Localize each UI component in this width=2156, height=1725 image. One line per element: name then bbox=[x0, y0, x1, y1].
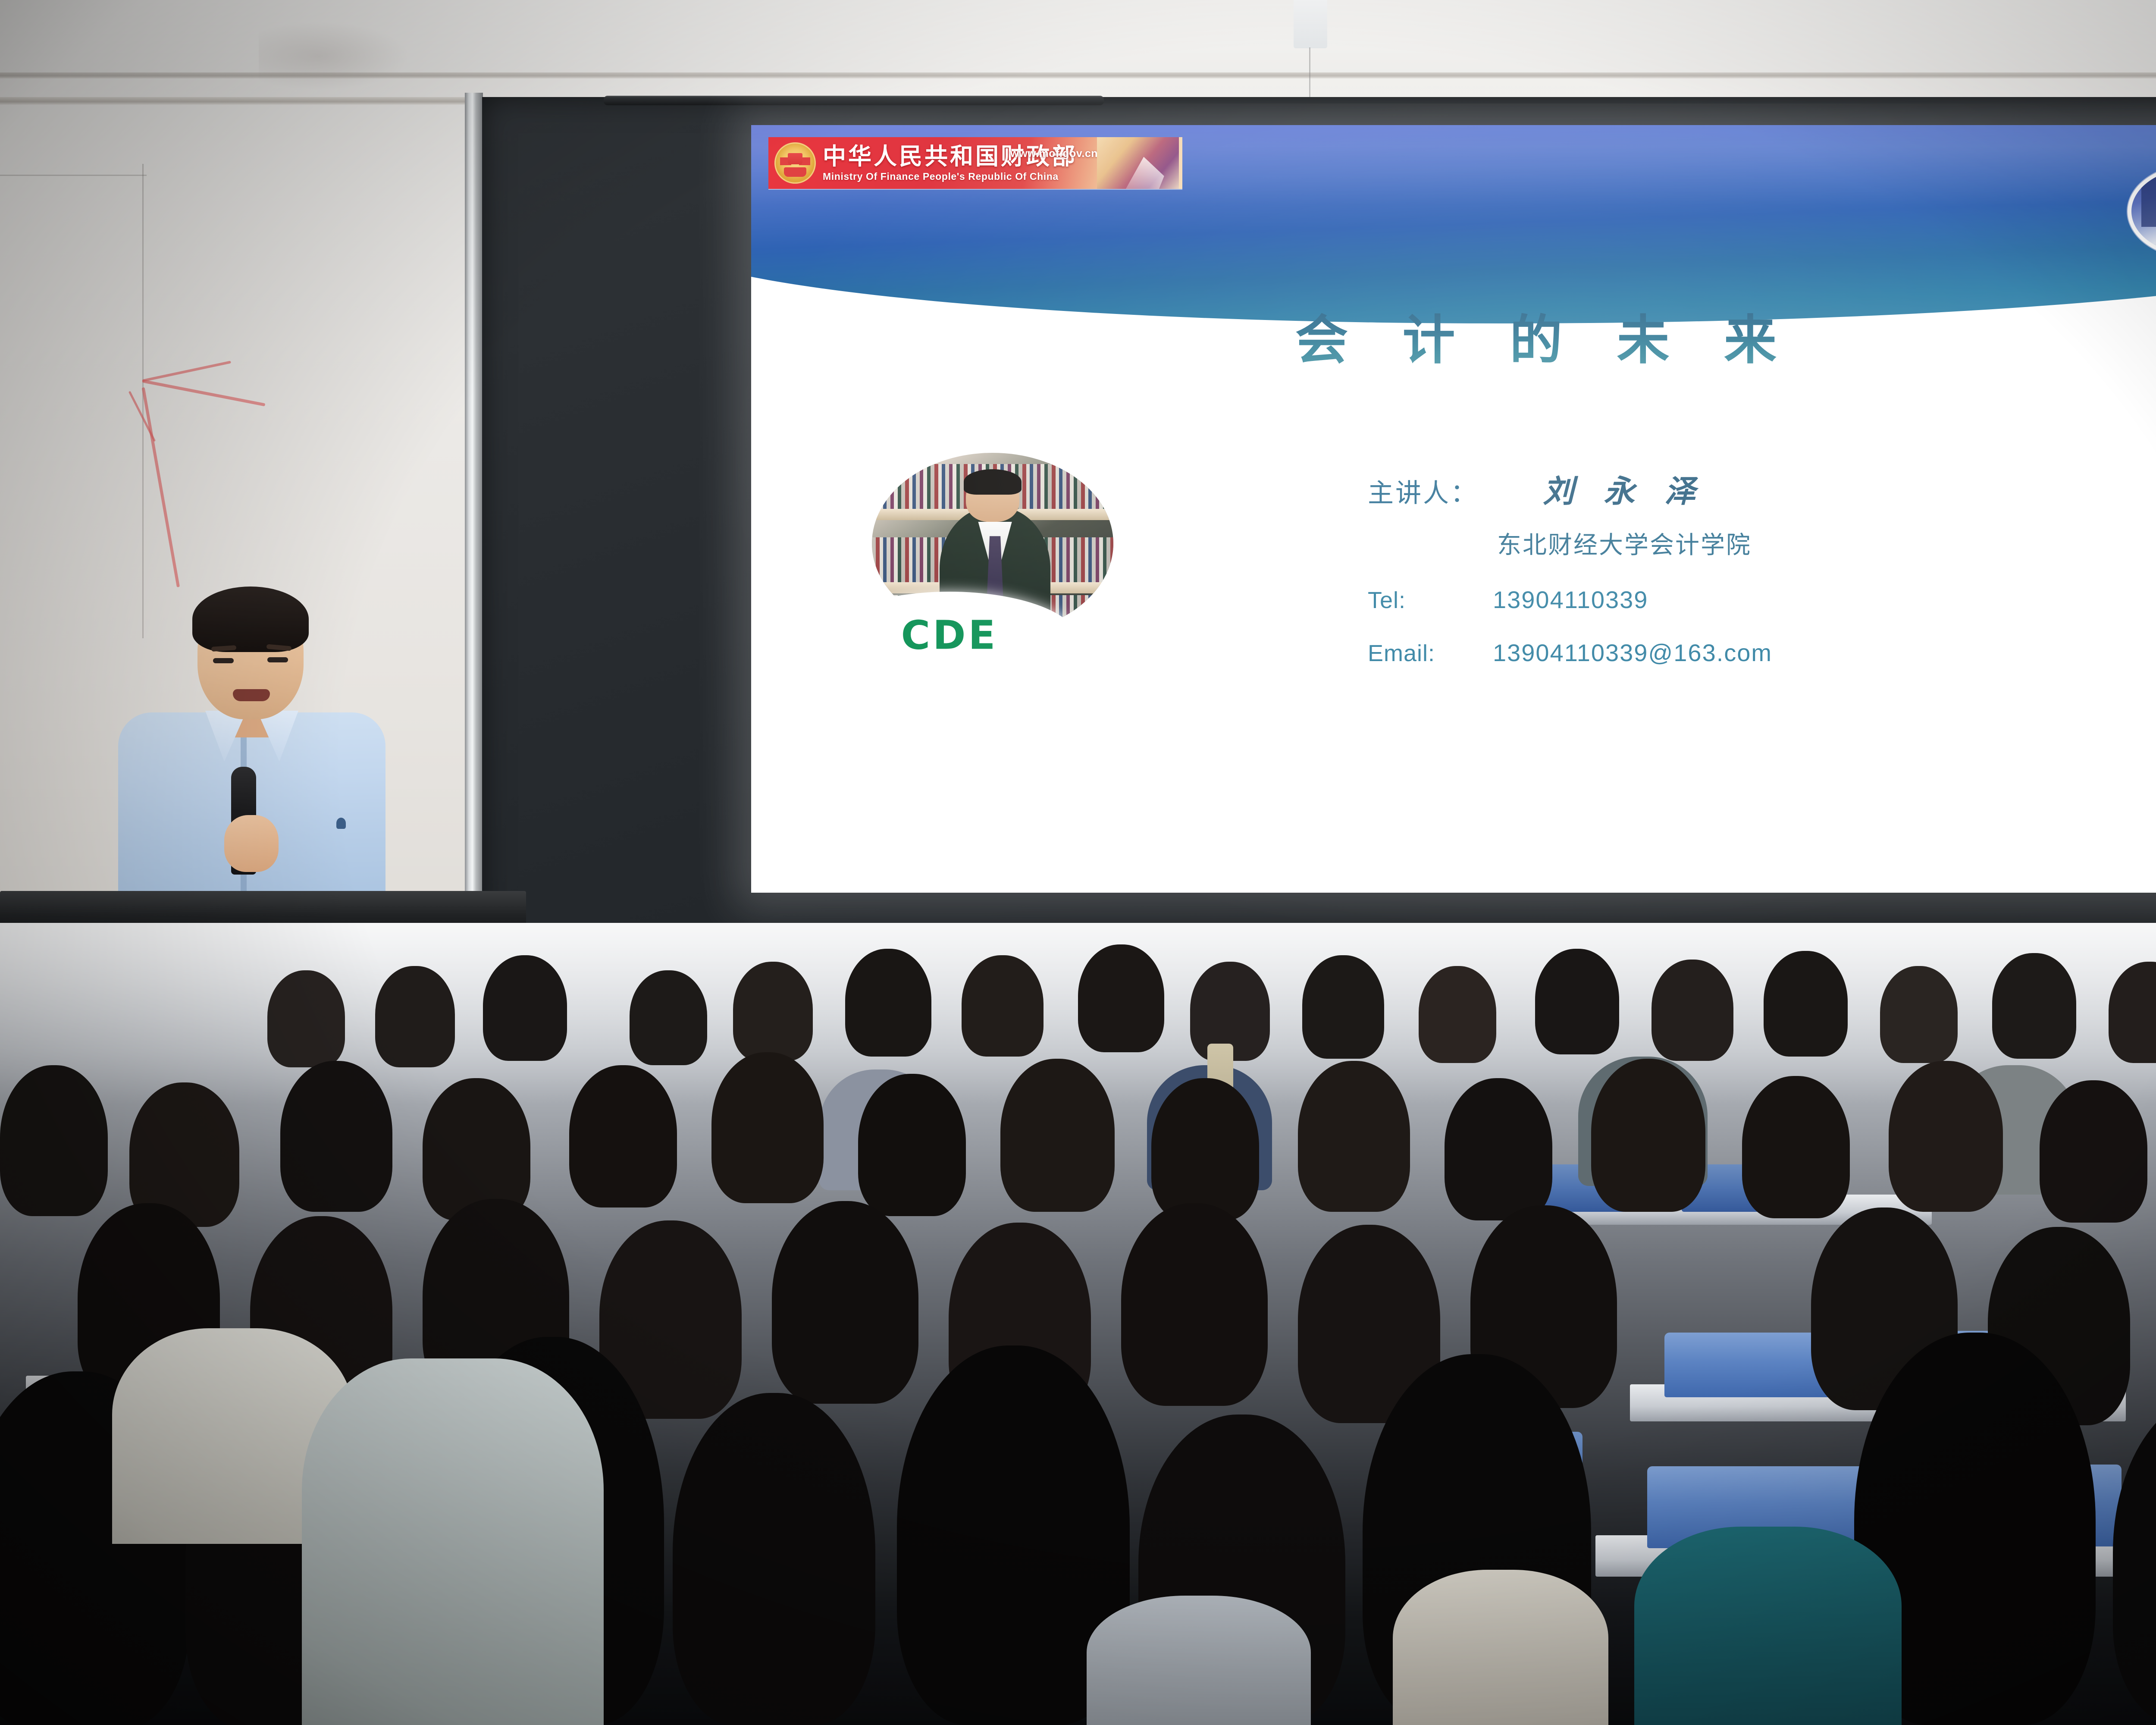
presenter-mouth bbox=[233, 689, 270, 701]
audience-head bbox=[267, 970, 345, 1067]
email-label: Email: bbox=[1368, 640, 1493, 667]
audience-head bbox=[1121, 1203, 1268, 1406]
audience-head bbox=[1764, 951, 1848, 1057]
ministry-banner-photo bbox=[1097, 137, 1179, 189]
audience-teal-shirt bbox=[1634, 1527, 1902, 1725]
speaker-name: 刘 永 泽 bbox=[1543, 466, 1705, 511]
audience-head bbox=[1651, 960, 1733, 1061]
ministry-name-en: Ministry Of Finance People's Republic Of… bbox=[823, 172, 1077, 182]
audience-jacket bbox=[302, 1358, 604, 1725]
audience-head bbox=[1302, 955, 1384, 1059]
contact-row-tel: Tel: 13904110339 bbox=[1368, 586, 2156, 614]
audience-head bbox=[1419, 966, 1496, 1063]
audience-head bbox=[1992, 953, 2076, 1059]
audience-head bbox=[1880, 966, 1958, 1063]
ministry-website-url: www.mof.gov.cn bbox=[1010, 147, 1098, 160]
audience-head bbox=[2040, 1080, 2147, 1223]
portrait-hair bbox=[964, 469, 1022, 495]
wall-seam-horizontal bbox=[0, 175, 147, 176]
cde-logo-text: CDE bbox=[901, 612, 998, 659]
wall-red-mark bbox=[142, 387, 180, 587]
slide-speaker-info: 主讲人： 刘 永 泽 东北财经大学会计学院 Tel: 13904110339 E… bbox=[1368, 466, 2156, 667]
audience-head bbox=[630, 970, 707, 1065]
audience-head bbox=[673, 1393, 875, 1725]
cde-logo-oval: CDE bbox=[820, 592, 1079, 691]
panel-trim-left bbox=[465, 93, 483, 990]
tel-value: 13904110339 bbox=[1493, 586, 1648, 614]
audience-head bbox=[1889, 1061, 2003, 1212]
wall-red-mark bbox=[142, 361, 231, 382]
ceiling-fixture bbox=[1294, 0, 1327, 48]
audience-head bbox=[845, 949, 931, 1057]
email-value: 13904110339@163.com bbox=[1493, 639, 1772, 667]
presenter-hand bbox=[224, 815, 279, 872]
audience-head bbox=[772, 1201, 918, 1404]
audience-head bbox=[1151, 1078, 1259, 1220]
tel-label: Tel: bbox=[1368, 587, 1493, 614]
audience-grey-shirt bbox=[1087, 1596, 1311, 1725]
badge-shadow-block bbox=[2141, 174, 2156, 227]
wall-seam-vertical bbox=[142, 164, 144, 638]
audience-head bbox=[483, 955, 567, 1061]
audience-head bbox=[962, 955, 1044, 1057]
audience-head bbox=[0, 1065, 108, 1216]
audience-head bbox=[1078, 944, 1164, 1052]
speaker-affiliation: 东北财经大学会计学院 bbox=[1497, 526, 2156, 561]
presenter-person bbox=[103, 574, 405, 914]
lecture-hall-scene: 中华人民共和国财政部 Ministry Of Finance People's … bbox=[0, 0, 2156, 1725]
audience-head bbox=[1535, 949, 1619, 1054]
cable-bundle bbox=[604, 96, 1104, 105]
audience-head bbox=[711, 1052, 824, 1203]
slide-title: 会 计 的 未 来 bbox=[751, 298, 2156, 374]
china-national-emblem-icon bbox=[774, 142, 816, 184]
audience-head bbox=[1298, 1061, 1410, 1212]
audience-head bbox=[569, 1065, 677, 1207]
presenter-hair bbox=[192, 586, 309, 652]
audience-head bbox=[1445, 1078, 1552, 1220]
audience-head bbox=[858, 1074, 966, 1216]
shirt-logo bbox=[336, 818, 346, 829]
ministry-of-finance-banner: 中华人民共和国财政部 Ministry Of Finance People's … bbox=[768, 137, 1182, 189]
wall-smudge bbox=[259, 22, 410, 91]
presenter-eye-right bbox=[267, 657, 288, 662]
audience-head bbox=[1000, 1059, 1115, 1212]
wall-molding bbox=[0, 97, 543, 105]
contact-row-email: Email: 13904110339@163.com bbox=[1368, 639, 2156, 667]
wall-red-mark bbox=[142, 379, 265, 406]
audience-light-shirt bbox=[1393, 1570, 1608, 1725]
audience-head bbox=[1591, 1059, 1705, 1212]
presenter-eye-left bbox=[213, 658, 234, 663]
speaker-name-row: 主讲人： 刘 永 泽 bbox=[1368, 466, 2156, 511]
audience-head bbox=[280, 1061, 392, 1212]
audience-head bbox=[375, 966, 455, 1067]
audience-head bbox=[1742, 1076, 1850, 1218]
audience-head bbox=[423, 1078, 530, 1220]
speaker-label: 主讲人： bbox=[1368, 472, 1478, 510]
audience-head bbox=[733, 962, 813, 1061]
projected-slide: 中华人民共和国财政部 Ministry Of Finance People's … bbox=[751, 125, 2156, 893]
